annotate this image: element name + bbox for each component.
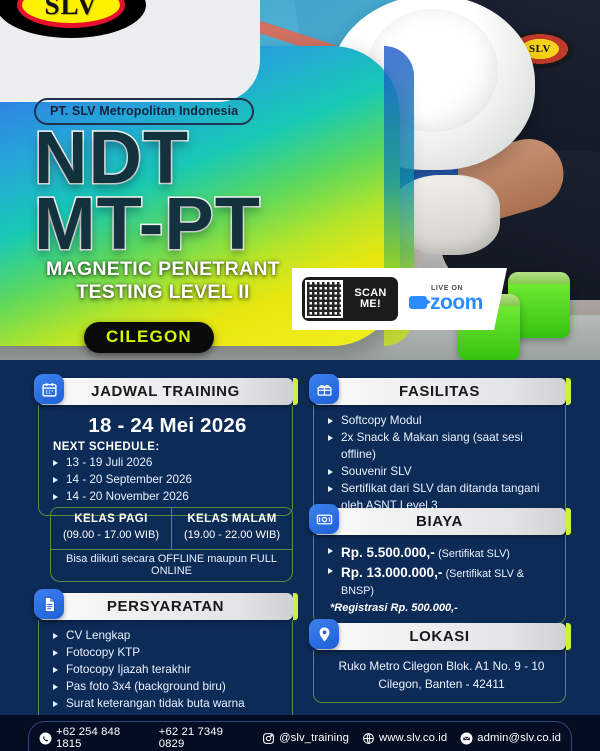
biaya-amount: Rp. 13.000.000,-: [341, 565, 442, 580]
footer-website[interactable]: www.slv.co.id: [362, 732, 447, 745]
subtitle-line-1: MAGNETIC PENETRANT: [18, 258, 308, 281]
list-item: 14 - 20 September 2026: [53, 472, 282, 489]
address-line-2: Cilegon, Banten - 42411: [328, 676, 555, 694]
kelas-pagi-cell: KELAS PAGI (09.00 - 17.00 WIB): [51, 508, 171, 549]
footer-phone-2-text: +62 21 7349 0829: [159, 726, 249, 750]
hero-subtitle: MAGNETIC PENETRANT TESTING LEVEL II: [18, 258, 308, 304]
kelas-malam-time: (19.00 - 22.00 WIB): [184, 529, 280, 541]
qr-code-icon[interactable]: [305, 280, 343, 318]
list-item: 13 - 19 Juli 2026: [53, 455, 282, 472]
list-item: Souvenir SLV: [328, 464, 555, 481]
list-item: CV Lengkap: [53, 628, 282, 645]
footer-email-text: admin@slv.co.id: [477, 732, 561, 744]
card-header-persyaratan: PERSYARATAN: [38, 593, 293, 620]
gift-icon: [309, 374, 339, 404]
card-jadwal-training: JADWAL TRAINING 18 - 24 Mei 2026 NEXT SC…: [38, 378, 293, 516]
card-body-persyaratan: CV Lengkap Fotocopy KTP Fotocopy Ijazah …: [38, 620, 293, 724]
card-body-jadwal: 18 - 24 Mei 2026 NEXT SCHEDULE: 13 - 19 …: [38, 405, 293, 516]
registration-note: *Registrasi Rp. 500.000,-: [328, 602, 555, 614]
jadwal-main-date: 18 - 24 Mei 2026: [53, 414, 282, 438]
card-persyaratan: PERSYARATAN CV Lengkap Fotocopy KTP Foto…: [38, 593, 293, 724]
zoom-wordmark: zoom: [430, 292, 483, 313]
list-item: 2x Snack & Makan siang (saat sesi offlin…: [328, 430, 555, 463]
card-header-fasilitas: FASILITAS: [313, 378, 566, 405]
video-camera-icon: [409, 296, 427, 309]
card-title-fasilitas: FASILITAS: [399, 383, 480, 400]
card-body-lokasi: Ruko Metro Cilegon Blok. A1 No. 9 - 10 C…: [313, 650, 566, 703]
list-item: 14 - 20 November 2026: [53, 489, 282, 506]
subtitle-line-2: TESTING LEVEL II: [18, 281, 308, 304]
document-icon: [34, 589, 64, 619]
kelas-grid: KELAS PAGI (09.00 - 17.00 WIB) KELAS MAL…: [50, 507, 293, 550]
list-item: Fotocopy KTP: [53, 645, 282, 662]
list-item: Fotocopy Ijazah terakhir: [53, 662, 282, 679]
address-line-1: Ruko Metro Cilegon Blok. A1 No. 9 - 10: [328, 658, 555, 676]
fasilitas-list: Softcopy Modul 2x Snack & Makan siang (s…: [328, 413, 555, 514]
map-pin-icon: [309, 619, 339, 649]
globe-icon: [362, 732, 375, 745]
email-icon: [460, 732, 473, 745]
footer-bar: +62 254 848 1815 +62 21 7349 0829 @slv_t…: [0, 715, 600, 751]
zoom-logo: LIVE ON zoom: [409, 285, 483, 313]
list-item: Surat keterangan tidak buta warna: [53, 696, 282, 713]
jadwal-next-label: NEXT SCHEDULE:: [53, 441, 282, 453]
list-item: Rp. 5.500.000,- (Sertifikat SLV): [328, 543, 555, 563]
card-fasilitas: FASILITAS Softcopy Modul 2x Snack & Maka…: [313, 378, 566, 525]
card-kelas-schedule: KELAS PAGI (09.00 - 17.00 WIB) KELAS MAL…: [50, 507, 293, 582]
list-item: Rp. 13.000.000,- (Sertifikat SLV & BNSP): [328, 563, 555, 599]
kelas-note: Bisa diikuti secara OFFLINE maupun FULL …: [50, 550, 293, 582]
money-icon: [309, 504, 339, 534]
title-mtpt: MT-PT: [34, 190, 261, 258]
card-body-biaya: Rp. 5.500.000,- (Sertifikat SLV) Rp. 13.…: [313, 535, 566, 624]
biaya-list: Rp. 5.500.000,- (Sertifikat SLV) Rp. 13.…: [328, 543, 555, 599]
slv-logo-text: SLV: [44, 0, 97, 19]
footer-email[interactable]: admin@slv.co.id: [460, 732, 561, 745]
card-title-lokasi: LOKASI: [409, 628, 469, 645]
calendar-icon: [34, 374, 64, 404]
footer-instagram[interactable]: @slv_training: [262, 732, 349, 745]
biaya-note: (Sertifikat SLV): [438, 548, 510, 560]
kelas-pagi-time: (09.00 - 17.00 WIB): [63, 529, 159, 541]
scan-zoom-banner: SCAN ME! LIVE ON zoom: [292, 268, 507, 330]
jadwal-next-list: 13 - 19 Juli 2026 14 - 20 September 2026…: [53, 455, 282, 506]
scan-me-label: SCAN ME!: [346, 288, 395, 310]
card-header-biaya: BIAYA: [313, 508, 566, 535]
instagram-icon: [262, 732, 275, 745]
city-badge: CILEGON: [84, 322, 214, 353]
list-item: Pas foto 3x4 (background biru): [53, 679, 282, 696]
poster-root: SLV SLV PT. SLV Metropolitan Indones: [0, 0, 600, 751]
card-header-jadwal: JADWAL TRAINING: [38, 378, 293, 405]
footer-instagram-text: @slv_training: [279, 732, 349, 744]
persyaratan-list: CV Lengkap Fotocopy KTP Fotocopy Ijazah …: [53, 628, 282, 713]
card-title-jadwal: JADWAL TRAINING: [91, 383, 240, 400]
card-title-biaya: BIAYA: [416, 513, 463, 530]
hero-section: SLV SLV PT. SLV Metropolitan Indones: [0, 0, 600, 360]
card-body-fasilitas: Softcopy Modul 2x Snack & Makan siang (s…: [313, 405, 566, 525]
content-area: JADWAL TRAINING 18 - 24 Mei 2026 NEXT SC…: [0, 360, 600, 715]
slv-logo: SLV: [0, 0, 146, 38]
scan-me-block[interactable]: SCAN ME!: [302, 277, 398, 321]
footer-phone-1[interactable]: +62 254 848 1815: [39, 726, 146, 750]
kelas-pagi-title: KELAS PAGI: [54, 513, 168, 525]
footer-phone-1-text: +62 254 848 1815: [56, 726, 146, 750]
card-title-persyaratan: PERSYARATAN: [107, 598, 224, 615]
card-header-lokasi: LOKASI: [313, 623, 566, 650]
footer-website-text: www.slv.co.id: [379, 732, 447, 744]
footer-phone-2[interactable]: +62 21 7349 0829: [159, 726, 249, 750]
card-lokasi: LOKASI Ruko Metro Cilegon Blok. A1 No. 9…: [313, 623, 566, 703]
footer-contact-strip: +62 254 848 1815 +62 21 7349 0829 @slv_t…: [28, 721, 572, 751]
logo-plate: SLV: [0, 0, 260, 102]
list-item: Softcopy Modul: [328, 413, 555, 430]
kelas-malam-cell: KELAS MALAM (19.00 - 22.00 WIB): [171, 508, 292, 549]
biaya-amount: Rp. 5.500.000,-: [341, 545, 435, 560]
kelas-malam-title: KELAS MALAM: [175, 513, 289, 525]
card-biaya: BIAYA Rp. 5.500.000,- (Sertifikat SLV) R…: [313, 508, 566, 624]
phone-icon: [39, 732, 52, 745]
